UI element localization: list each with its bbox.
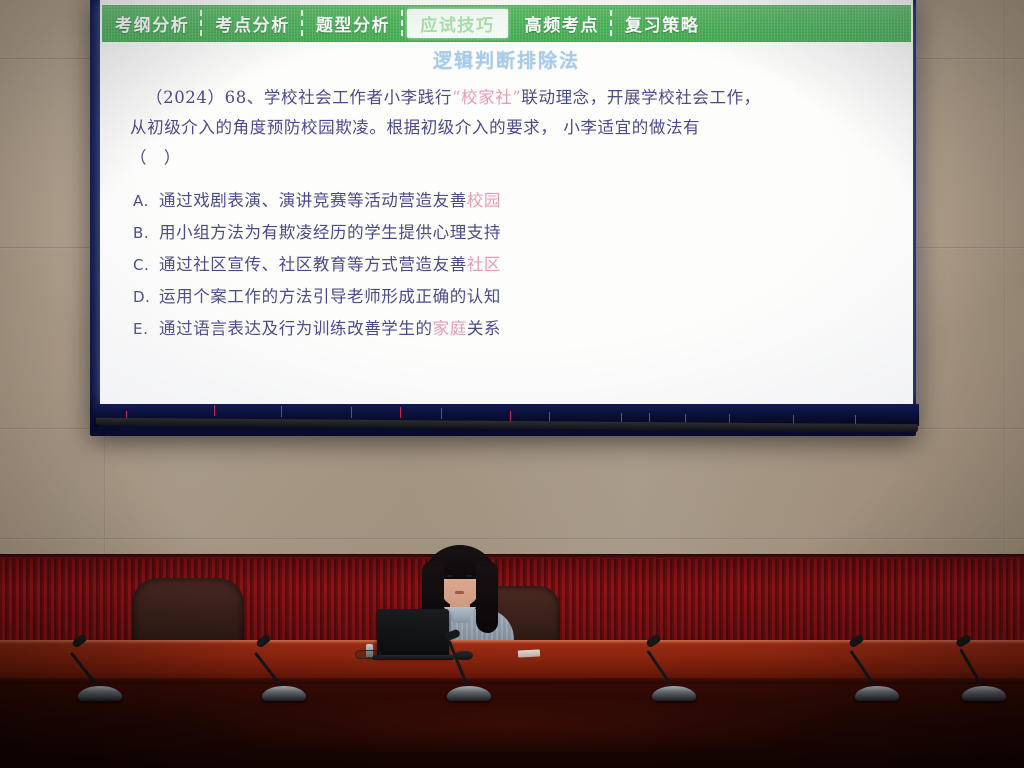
question-answer-blank: （ ）	[130, 143, 883, 173]
option-c-letter: C.	[133, 249, 159, 281]
lecture-hall-scene: 考纲分析 考点分析 题型分析 应试技巧 高频考点 复习策略 逻辑判断排除法 （2…	[0, 0, 1024, 768]
tab-kaogang-fenxi[interactable]: 考纲分析	[102, 5, 202, 42]
tab-fuxi-celue[interactable]: 复习策略	[612, 5, 712, 42]
option-d[interactable]: D. 运用个案工作的方法引导老师形成正确的认知	[133, 281, 883, 313]
question-line-1: （2024）68、学校社会工作者小李践行“校家社”联动理念，开展学校社会工作，	[130, 83, 883, 113]
microphone	[652, 639, 696, 701]
option-a-text: 通过戏剧表演、演讲竞赛等活动营造友善校园	[159, 185, 501, 217]
option-e-text: 通过语言表达及行为训练改善学生的家庭关系	[159, 313, 501, 345]
option-a[interactable]: A. 通过戏剧表演、演讲竞赛等活动营造友善校园	[133, 185, 883, 217]
mic-base	[262, 686, 306, 701]
laptop-base	[372, 655, 454, 660]
slide-tabbar: 考纲分析 考点分析 题型分析 应试技巧 高频考点 复习策略	[102, 5, 911, 42]
question-stem: （2024）68、学校社会工作者小李践行“校家社”联动理念，开展学校社会工作， …	[130, 83, 883, 173]
microphone	[78, 639, 122, 701]
tab-yingshi-jiqiao[interactable]: 应试技巧	[407, 9, 507, 38]
wall-seam	[0, 538, 1024, 540]
tab-tixing-fenxi[interactable]: 题型分析	[303, 5, 403, 42]
wall-seam	[1004, 0, 1006, 560]
mic-gooseneck	[448, 640, 470, 689]
mic-gooseneck	[959, 648, 985, 689]
option-b-text-main: 用小组方法为有欺凌经历的学生提供心理支持	[159, 223, 501, 242]
mouth	[455, 591, 464, 594]
mic-base	[855, 686, 899, 701]
option-a-text-main: 通过戏剧表演、演讲竞赛等活动营造友善	[159, 191, 467, 210]
option-e-text-tail: 关系	[467, 319, 501, 338]
microphone	[855, 639, 899, 701]
option-list: A. 通过戏剧表演、演讲竞赛等活动营造友善校园 B. 用小组方法为有欺凌经历的学…	[133, 185, 883, 345]
question-line-1a: （2024）68、学校社会工作者小李践行	[146, 88, 452, 107]
mic-base	[78, 686, 122, 701]
option-b[interactable]: B. 用小组方法为有欺凌经历的学生提供心理支持	[133, 217, 883, 249]
option-c[interactable]: C. 通过社区宣传、社区教育等方式营造友善社区	[133, 249, 883, 281]
option-c-text: 通过社区宣传、社区教育等方式营造友善社区	[159, 249, 501, 281]
mic-base	[652, 686, 696, 701]
eye-right	[467, 575, 472, 577]
microphone	[962, 639, 1006, 701]
eye-left	[447, 575, 452, 577]
question-highlight-xiaojiashe: “校家社”	[452, 88, 521, 107]
option-d-text-main: 运用个案工作的方法引导老师形成正确的认知	[159, 287, 501, 306]
slide-title: 逻辑判断排除法	[100, 46, 913, 73]
option-b-letter: B.	[133, 217, 159, 249]
option-a-letter: A.	[133, 185, 159, 217]
desk-front-emblem	[0, 700, 1024, 752]
eyeglasses	[355, 650, 381, 659]
option-e-highlight: 家庭	[433, 319, 467, 338]
question-line-2: 从初级介入的角度预防校园欺凌。根据初级介入的要求， 小李适宜的做法有	[130, 113, 883, 143]
option-e-letter: E.	[133, 313, 159, 345]
projector-screen: 考纲分析 考点分析 题型分析 应试技巧 高频考点 复习策略 逻辑判断排除法 （2…	[100, 0, 913, 404]
option-c-text-main: 通过社区宣传、社区教育等方式营造友善	[159, 255, 467, 274]
option-b-text: 用小组方法为有欺凌经历的学生提供心理支持	[159, 217, 501, 249]
mic-base	[447, 686, 491, 701]
question-line-1b: 联动理念，开展学校社会工作，	[521, 88, 760, 107]
option-e-text-main: 通过语言表达及行为训练改善学生的	[159, 319, 433, 338]
microphone	[262, 639, 306, 701]
option-a-highlight: 校园	[467, 191, 501, 210]
option-d-letter: D.	[133, 281, 159, 313]
paper-sheet	[518, 649, 540, 657]
tab-gaopin-kaodian[interactable]: 高频考点	[512, 5, 612, 42]
slide-content: 逻辑判断排除法 （2024）68、学校社会工作者小李践行“校家社”联动理念，开展…	[100, 42, 913, 404]
option-e[interactable]: E. 通过语言表达及行为训练改善学生的家庭关系	[133, 313, 883, 345]
microphone-presenter	[447, 639, 491, 701]
hair-right	[476, 561, 498, 633]
laptop-screen	[377, 609, 449, 657]
tab-kaodian-fenxi[interactable]: 考点分析	[202, 5, 302, 42]
option-c-highlight: 社区	[467, 255, 501, 274]
option-d-text: 运用个案工作的方法引导老师形成正确的认知	[159, 281, 501, 313]
mic-base	[962, 686, 1006, 701]
